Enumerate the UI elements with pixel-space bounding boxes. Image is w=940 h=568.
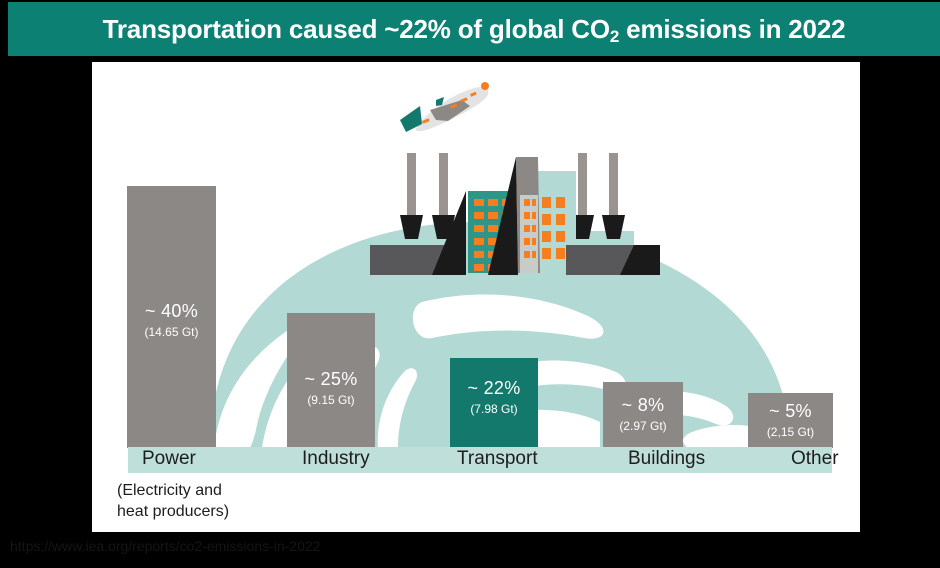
category-label-transport: Transport [457,448,538,470]
bar-buildings-percent: ~ 8% [603,395,683,416]
bar-industry-gt: (9.15 Gt) [287,393,375,407]
bar-power-percent: ~ 40% [127,301,216,322]
bar-other-percent: ~ 5% [748,401,833,422]
bar-power[interactable]: ~ 40% (14.65 Gt) [127,186,216,448]
bar-transport[interactable]: ~ 22% (7.98 Gt) [450,358,538,448]
category-label-industry: Industry [302,448,370,470]
title-banner: Transportation caused ~22% of global CO2… [8,2,940,56]
category-label-power: Power [142,448,196,470]
title-subscript: 2 [610,27,619,46]
chart-panel: ~ 40% (14.65 Gt) ~ 25% (9.15 Gt) ~ 22% (… [92,62,860,532]
source-url-link[interactable]: https://www.iea.org/reports/co2-emission… [10,538,320,554]
bar-other[interactable]: ~ 5% (2,15 Gt) [748,393,833,448]
power-sub-note: (Electricity and heat producers) [117,480,229,522]
bar-industry[interactable]: ~ 25% (9.15 Gt) [287,313,375,448]
bar-buildings[interactable]: ~ 8% (2.97 Gt) [603,382,683,448]
airplane-icon [392,72,512,142]
bar-transport-gt: (7.98 Gt) [450,402,538,416]
bar-power-gt: (14.65 Gt) [127,325,216,339]
bar-industry-percent: ~ 25% [287,369,375,390]
title-suffix: emissions in 2022 [619,14,845,44]
title-prefix: Transportation caused ~22% of global CO [103,14,610,44]
power-sub-note-line1: (Electricity and [117,480,229,501]
category-label-buildings: Buildings [628,448,705,470]
bar-buildings-gt: (2.97 Gt) [603,419,683,433]
category-label-other: Other [791,448,839,470]
factory-icon [370,147,660,277]
page-title: Transportation caused ~22% of global CO2… [103,14,846,45]
bar-other-gt: (2,15 Gt) [748,425,833,439]
power-sub-note-line2: heat producers) [117,501,229,522]
slide-canvas: Transportation caused ~22% of global CO2… [0,0,940,568]
bar-transport-percent: ~ 22% [450,378,538,399]
category-label-band: Power Industry Transport Buildings Other [128,447,832,473]
